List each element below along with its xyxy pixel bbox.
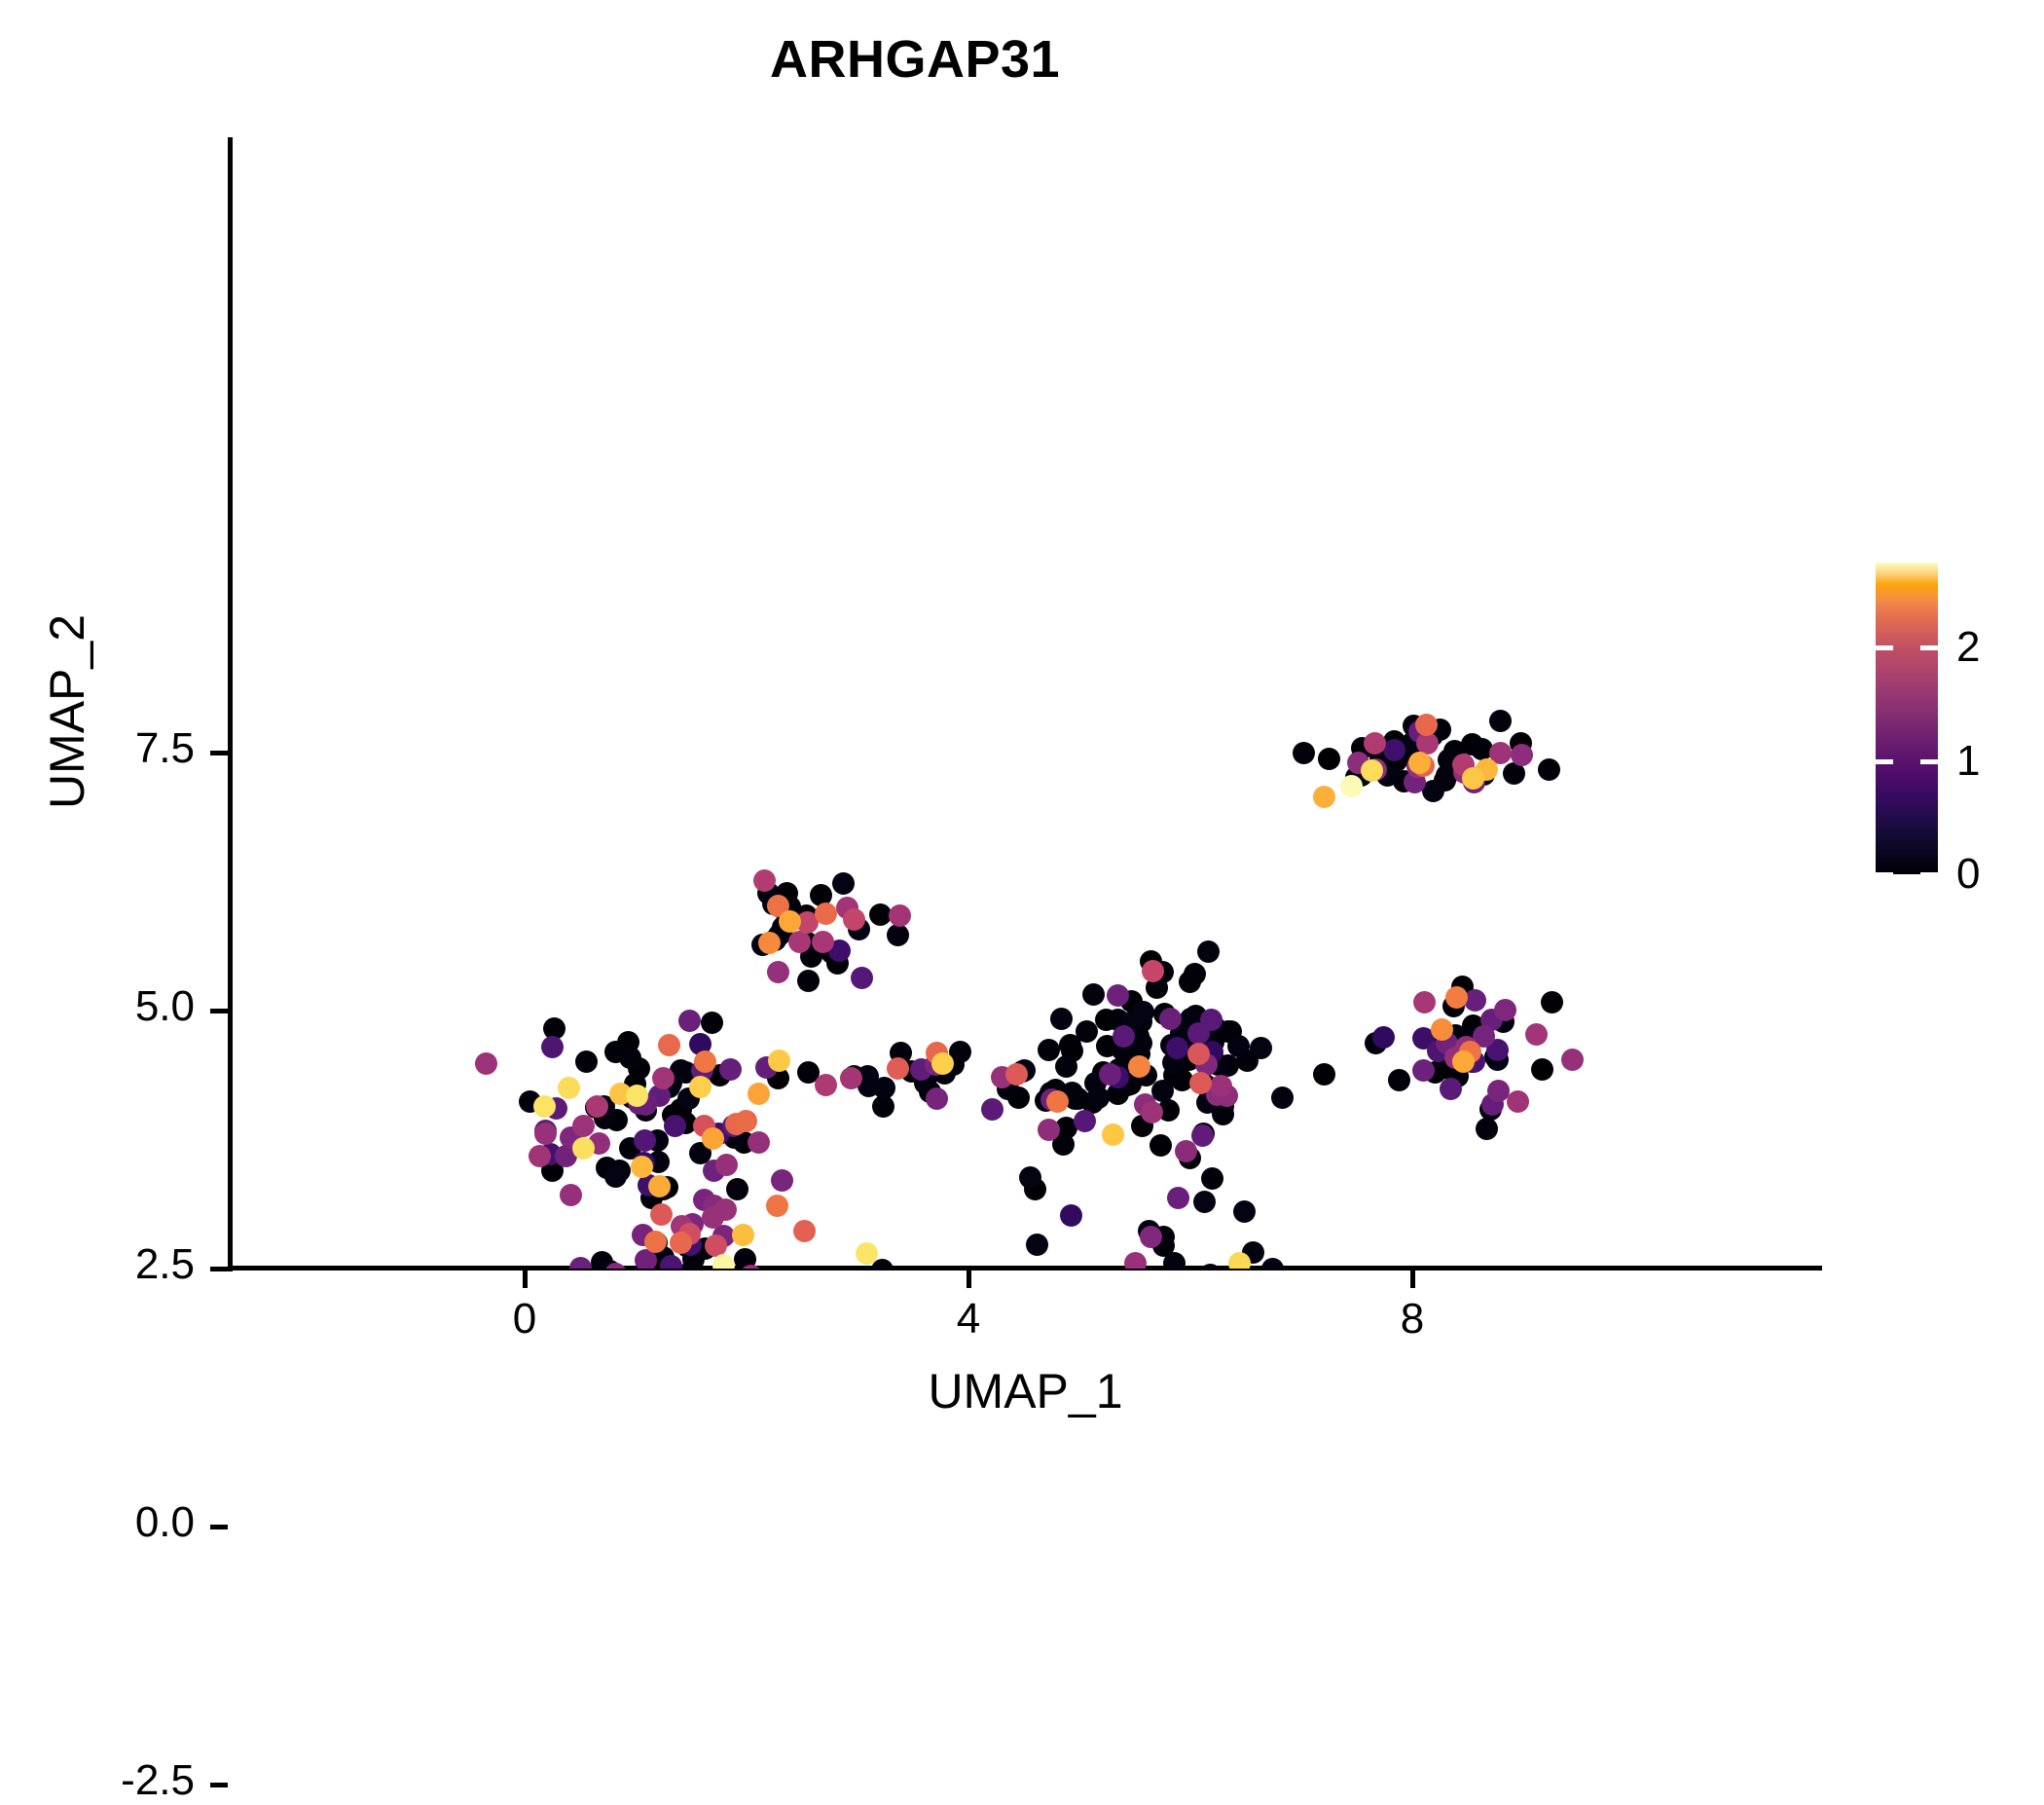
scatter-point (843, 908, 865, 931)
scatter-point (715, 1154, 738, 1176)
y-tick--2.5 (210, 1783, 228, 1787)
scatter-point (1082, 983, 1105, 1006)
colorbar-tick-2 (1876, 645, 1893, 650)
x-tick-4 (967, 1271, 971, 1288)
scatter-point (648, 1175, 671, 1197)
scatter-point (1019, 1166, 1041, 1189)
scatter-point (726, 1178, 748, 1200)
scatter-point (604, 1165, 627, 1188)
scatter-point (1141, 1101, 1163, 1124)
scatter-point (1318, 748, 1340, 770)
scatter-point (660, 1255, 682, 1269)
scatter-point (1199, 1264, 1222, 1269)
x-tick-8 (1410, 1271, 1415, 1288)
scatter-point (569, 1257, 592, 1269)
scatter-point (1383, 739, 1405, 761)
scatter-point (748, 1083, 770, 1105)
scatter-point (1250, 1037, 1272, 1059)
scatter-point (767, 961, 789, 983)
scatter-point (664, 1115, 686, 1137)
scatter-point (735, 1110, 757, 1132)
scatter-point (1440, 1078, 1462, 1100)
scatter-point (1464, 989, 1486, 1012)
scatter-point (815, 902, 837, 925)
y-tick-label: 5.0 (0, 982, 195, 1031)
scatter-point (689, 1076, 712, 1098)
y-tick-label: 2.5 (0, 1240, 195, 1289)
scatter-point (832, 872, 855, 895)
scatter-point (1102, 1124, 1124, 1146)
scatter-point (766, 1195, 788, 1217)
scatter-point (1163, 1252, 1186, 1269)
scatter-point (560, 1184, 582, 1206)
scatter-point (1124, 1252, 1147, 1269)
scatter-point (658, 1034, 680, 1056)
scatter-point (889, 904, 911, 927)
scatter-point (732, 1224, 754, 1246)
scatter-point (1140, 1226, 1162, 1248)
colorbar-tick-0 (1920, 872, 1938, 877)
chart-root: ARHGAP31 048 -2.50.02.55.07.5 UMAP_1 UMA… (0, 0, 2044, 1460)
scatter-point (1476, 1118, 1498, 1140)
colorbar-tick-0 (1876, 872, 1893, 877)
scatter-point (793, 1220, 816, 1242)
scatter-point (1050, 1008, 1073, 1030)
y-tick-2.5 (210, 1267, 228, 1271)
y-tick-7.5 (210, 751, 228, 755)
scatter-point (712, 1254, 735, 1269)
colorbar-gradient (1876, 563, 1938, 874)
scatter-point (926, 1087, 948, 1110)
scatter-point (887, 1057, 909, 1080)
scatter-point (1364, 732, 1386, 755)
scatter-point (1193, 1191, 1216, 1213)
scatter-point (1415, 714, 1438, 736)
scatter-point (631, 1156, 653, 1178)
scatter-point (873, 1077, 895, 1099)
scatter-point (1038, 1039, 1060, 1061)
scatter-point (748, 1131, 770, 1154)
x-tick-label: 8 (1354, 1295, 1471, 1344)
scatter-point (1511, 744, 1533, 766)
colorbar-tick-label: 0 (1956, 850, 1980, 899)
scatter-point (1313, 1063, 1335, 1086)
scatter-point (1531, 1058, 1553, 1081)
page-title: ARHGAP31 (0, 29, 1830, 90)
scatter-point (1167, 1187, 1189, 1209)
scatter-point (694, 1050, 716, 1073)
scatter-point (534, 1123, 557, 1145)
x-tick-0 (523, 1271, 528, 1288)
scatter-point (558, 1077, 580, 1099)
scatter-point (644, 1231, 667, 1253)
scatter-point (634, 1129, 656, 1152)
scatter-point (856, 1242, 878, 1265)
scatter-point (1261, 1258, 1284, 1269)
scatter-point (771, 1169, 793, 1192)
scatter-points-layer (229, 138, 1822, 1269)
scatter-point (1187, 1022, 1210, 1045)
y-tick-label: 7.5 (0, 724, 195, 773)
scatter-point (1388, 1069, 1410, 1091)
scatter-point (1361, 759, 1383, 782)
scatter-point (981, 1098, 1004, 1121)
scatter-point (1060, 1204, 1082, 1227)
scatter-point (788, 931, 811, 953)
scatter-point (1150, 1134, 1172, 1157)
colorbar-tick-1 (1876, 759, 1893, 764)
scatter-point (1184, 963, 1206, 985)
scatter-point (812, 931, 834, 953)
scatter-point (1408, 752, 1431, 774)
scatter-point (1340, 775, 1363, 797)
scatter-point (1413, 991, 1436, 1013)
scatter-point (1113, 1025, 1135, 1048)
colorbar-tick-1 (1920, 759, 1938, 764)
scatter-point (1227, 1035, 1250, 1057)
scatter-point (753, 869, 776, 892)
scatter-point (719, 1058, 742, 1081)
scatter-point (678, 1010, 701, 1032)
scatter-point (779, 910, 801, 933)
scatter-point (652, 1067, 675, 1089)
colorbar-tick-2 (1920, 645, 1938, 650)
scatter-point (1489, 710, 1512, 732)
scatter-point (702, 1127, 724, 1150)
scatter-point (1191, 1124, 1214, 1147)
scatter-point (1201, 1167, 1223, 1190)
scatter-point (1445, 986, 1468, 1009)
scatter-point (1503, 762, 1525, 785)
scatter-point (1313, 786, 1335, 808)
y-axis-label: UMAP_2 (39, 371, 95, 1052)
scatter-point (1228, 1252, 1251, 1269)
x-tick-label: 4 (910, 1295, 1027, 1344)
scatter-point (1175, 1140, 1197, 1162)
scatter-point (670, 1232, 692, 1254)
colorbar-tick-label: 2 (1956, 623, 1980, 672)
colorbar-tick-label: 1 (1956, 737, 1980, 786)
scatter-point (840, 1067, 862, 1089)
scatter-point (1494, 999, 1516, 1021)
scatter-point (1197, 940, 1220, 963)
scatter-point (797, 970, 820, 992)
scatter-point (1462, 767, 1484, 790)
scatter-point (1074, 1110, 1096, 1132)
x-tick-label: 0 (466, 1295, 583, 1344)
plot-panel (229, 138, 1822, 1269)
scatter-point (701, 1012, 723, 1034)
y-tick-5.0 (210, 1009, 228, 1013)
scatter-point (541, 1036, 564, 1058)
scatter-point (1271, 1087, 1294, 1109)
scatter-point (1431, 1018, 1453, 1041)
scatter-point (887, 924, 909, 946)
scatter-point (1372, 1026, 1395, 1049)
scatter-point (626, 1085, 648, 1107)
y-tick-label: -2.5 (0, 1756, 195, 1805)
scatter-point (1538, 758, 1560, 781)
scatter-point (529, 1145, 551, 1167)
scatter-point (1525, 1023, 1548, 1046)
scatter-point (1087, 1087, 1110, 1109)
scatter-point (1507, 1090, 1529, 1113)
y-tick-label: 0.0 (0, 1498, 195, 1547)
scatter-point (1005, 1063, 1028, 1086)
scatter-point (1541, 991, 1563, 1013)
scatter-point (758, 932, 781, 954)
scatter-point (650, 1203, 673, 1226)
scatter-point (1561, 1049, 1584, 1071)
x-axis-label: UMAP_1 (229, 1363, 1822, 1419)
scatter-point (851, 967, 873, 989)
scatter-point (1293, 742, 1315, 764)
scatter-point (1076, 1020, 1098, 1043)
scatter-point (1046, 1090, 1069, 1113)
colorbar-legend: 012 (1849, 545, 2034, 935)
scatter-point (1055, 1055, 1077, 1078)
scatter-point (1189, 1072, 1212, 1094)
y-tick-0.0 (210, 1525, 228, 1529)
scatter-point (1107, 984, 1129, 1007)
scatter-point (1233, 1200, 1256, 1223)
scatter-point (815, 1074, 837, 1096)
scatter-point (1038, 1119, 1060, 1141)
scatter-point (575, 1050, 598, 1073)
scatter-point (572, 1137, 595, 1160)
scatter-point (931, 1052, 954, 1075)
scatter-point (475, 1052, 497, 1075)
scatter-point (1026, 1234, 1048, 1256)
scatter-point (768, 1050, 790, 1072)
